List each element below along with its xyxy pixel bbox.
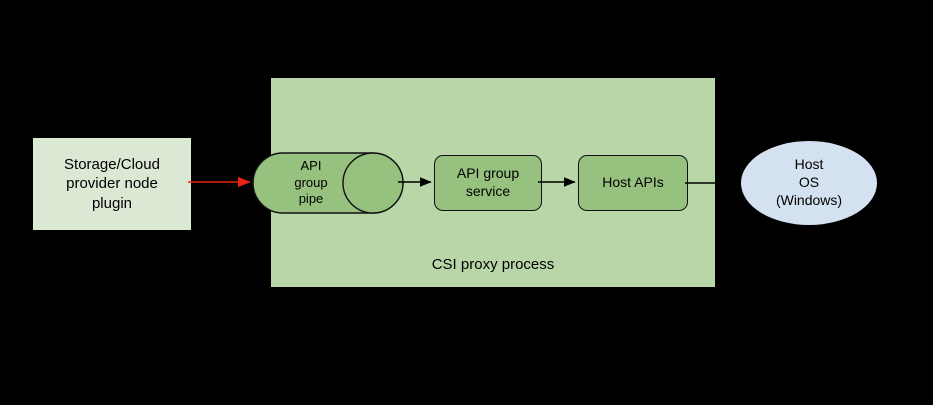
api-group-service-node: API group service bbox=[434, 155, 542, 211]
edge-plugin-to-pipe bbox=[188, 172, 260, 192]
storage-cloud-provider-node-plugin-label: Storage/Cloud provider node plugin bbox=[64, 155, 160, 213]
diagram-canvas: CSI proxy process Storage/Cloud provider… bbox=[0, 0, 933, 405]
host-apis-label: Host APIs bbox=[602, 174, 663, 192]
host-os-label: Host OS (Windows) bbox=[776, 156, 842, 210]
host-os-node: Host OS (Windows) bbox=[741, 141, 877, 225]
host-apis-node: Host APIs bbox=[578, 155, 688, 211]
api-group-pipe-node: API group pipe bbox=[252, 152, 404, 214]
api-group-pipe-label: API group pipe bbox=[252, 152, 370, 214]
edge-host-apis-to-host-os bbox=[685, 176, 747, 188]
csi-proxy-process-label: CSI proxy process bbox=[271, 255, 715, 274]
storage-cloud-provider-node-plugin-node: Storage/Cloud provider node plugin bbox=[33, 138, 191, 230]
api-group-service-label: API group service bbox=[457, 165, 519, 201]
